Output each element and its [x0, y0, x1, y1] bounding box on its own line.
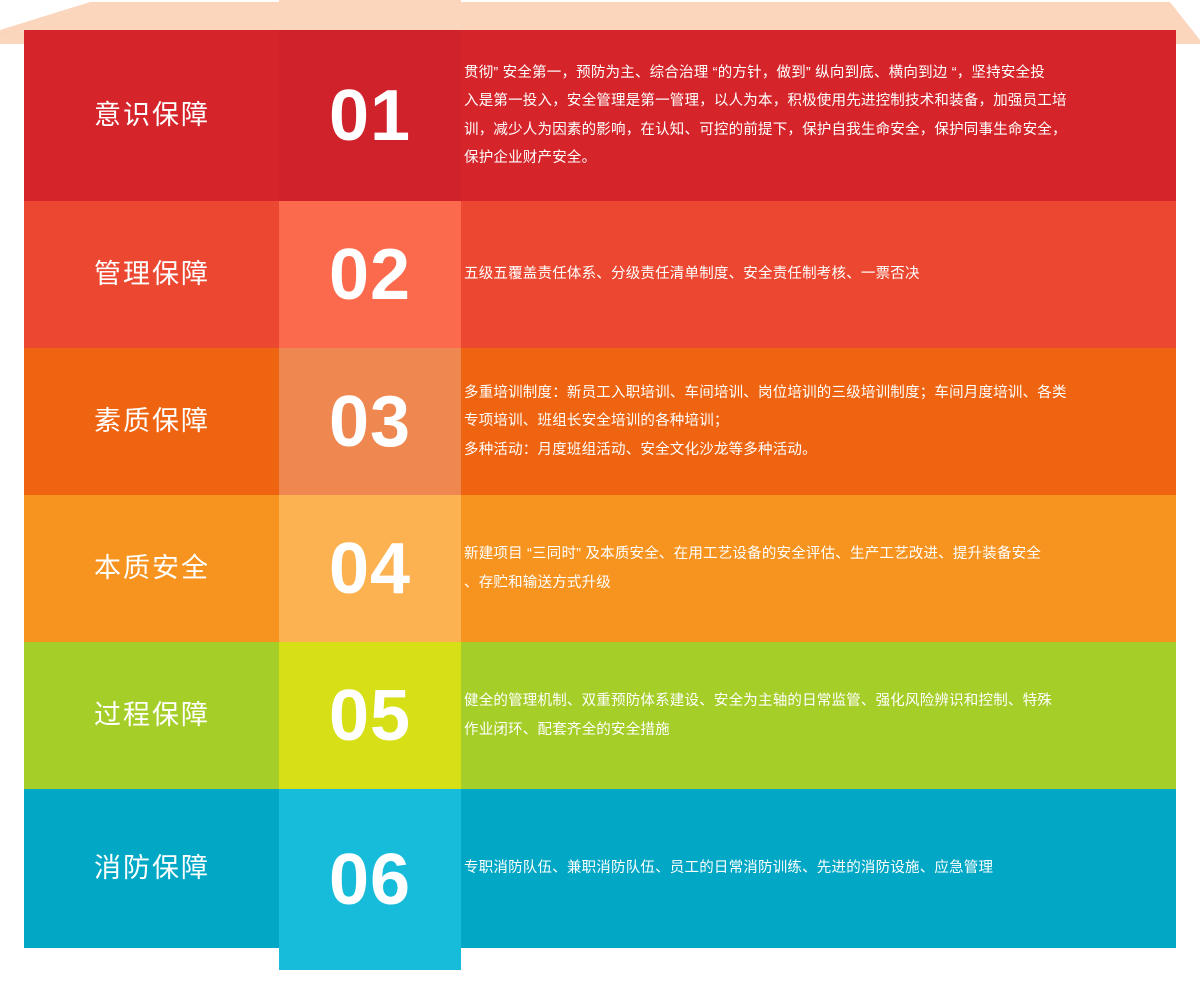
row-label-text-01: 意识保障 [94, 102, 210, 129]
row-description-06: 专职消防队伍、兼职消防队伍、员工的日常消防训练、先进的消防设施、应急管理 [464, 789, 1152, 948]
row-label-06: 消防保障 [24, 789, 280, 948]
row-desc-line: 健全的管理机制、双重预防体系建设、安全为主轴的日常监管、强化风险辨识和控制、特殊 [464, 687, 1134, 715]
row-description-02: 五级五覆盖责任体系、分级责任清单制度、安全责任制考核、一票否决 [464, 201, 1152, 348]
row-desc-line: 五级五覆盖责任体系、分级责任清单制度、安全责任制考核、一票否决 [464, 260, 1134, 288]
number-column-top-cap [279, 0, 461, 30]
row-stack: 意识保障 贯彻” 安全第一，预防为主、综合治理 “的方针，做到” 纵向到底、横向… [24, 30, 1176, 948]
row-desc-line: 专职消防队伍、兼职消防队伍、员工的日常消防训练、先进的消防设施、应急管理 [464, 854, 1134, 882]
row-label-03: 素质保障 [24, 348, 280, 495]
row-label-04: 本质安全 [24, 495, 280, 642]
row-06[interactable]: 消防保障 专职消防队伍、兼职消防队伍、员工的日常消防训练、先进的消防设施、应急管… [24, 789, 1176, 948]
row-description-01: 贯彻” 安全第一，预防为主、综合治理 “的方针，做到” 纵向到底、横向到边 “，… [464, 30, 1152, 201]
infographic-root: 意识保障 贯彻” 安全第一，预防为主、综合治理 “的方针，做到” 纵向到底、横向… [0, 0, 1200, 993]
row-label-05: 过程保障 [24, 642, 280, 789]
row-03[interactable]: 素质保障 多重培训制度：新员工入职培训、车间培训、岗位培训的三级培训制度；车间月… [24, 348, 1176, 495]
row-desc-line: 、存贮和输送方式升级 [464, 569, 1134, 597]
row-desc-line: 新建项目 “三同时” 及本质安全、在用工艺设备的安全评估、生产工艺改进、提升装备… [464, 540, 1134, 568]
row-label-text-04: 本质安全 [94, 555, 210, 582]
row-01[interactable]: 意识保障 贯彻” 安全第一，预防为主、综合治理 “的方针，做到” 纵向到底、横向… [24, 30, 1176, 201]
row-desc-line: 多种活动：月度班组活动、安全文化沙龙等多种活动。 [464, 436, 1134, 464]
row-label-text-06: 消防保障 [94, 855, 210, 882]
row-desc-line: 保护企业财产安全。 [464, 144, 1134, 172]
row-label-text-03: 素质保障 [94, 408, 210, 435]
row-description-03: 多重培训制度：新员工入职培训、车间培训、岗位培训的三级培训制度；车间月度培训、各… [464, 348, 1152, 495]
row-label-text-02: 管理保障 [94, 261, 210, 288]
row-desc-line: 训，减少人为因素的影响，在认知、可控的前提下，保护自我生命安全，保护同事生命安全… [464, 116, 1134, 144]
row-label-text-05: 过程保障 [94, 702, 210, 729]
row-05[interactable]: 过程保障 健全的管理机制、双重预防体系建设、安全为主轴的日常监管、强化风险辨识和… [24, 642, 1176, 789]
row-02[interactable]: 管理保障 五级五覆盖责任体系、分级责任清单制度、安全责任制考核、一票否决 [24, 201, 1176, 348]
row-desc-line: 多重培训制度：新员工入职培训、车间培训、岗位培训的三级培训制度；车间月度培训、各… [464, 379, 1134, 407]
row-04[interactable]: 本质安全 新建项目 “三同时” 及本质安全、在用工艺设备的安全评估、生产工艺改进… [24, 495, 1176, 642]
row-desc-line: 入是第一投入，安全管理是第一管理，以人为本，积极使用先进控制技术和装备，加强员工… [464, 87, 1134, 115]
row-desc-line: 作业闭环、配套齐全的安全措施 [464, 716, 1134, 744]
row-desc-line: 专项培训、班组长安全培训的各种培训； [464, 407, 1134, 435]
row-label-01: 意识保障 [24, 30, 280, 201]
row-description-04: 新建项目 “三同时” 及本质安全、在用工艺设备的安全评估、生产工艺改进、提升装备… [464, 495, 1152, 642]
row-description-05: 健全的管理机制、双重预防体系建设、安全为主轴的日常监管、强化风险辨识和控制、特殊… [464, 642, 1152, 789]
row-desc-line: 贯彻” 安全第一，预防为主、综合治理 “的方针，做到” 纵向到底、横向到边 “，… [464, 59, 1134, 87]
row-label-02: 管理保障 [24, 201, 280, 348]
